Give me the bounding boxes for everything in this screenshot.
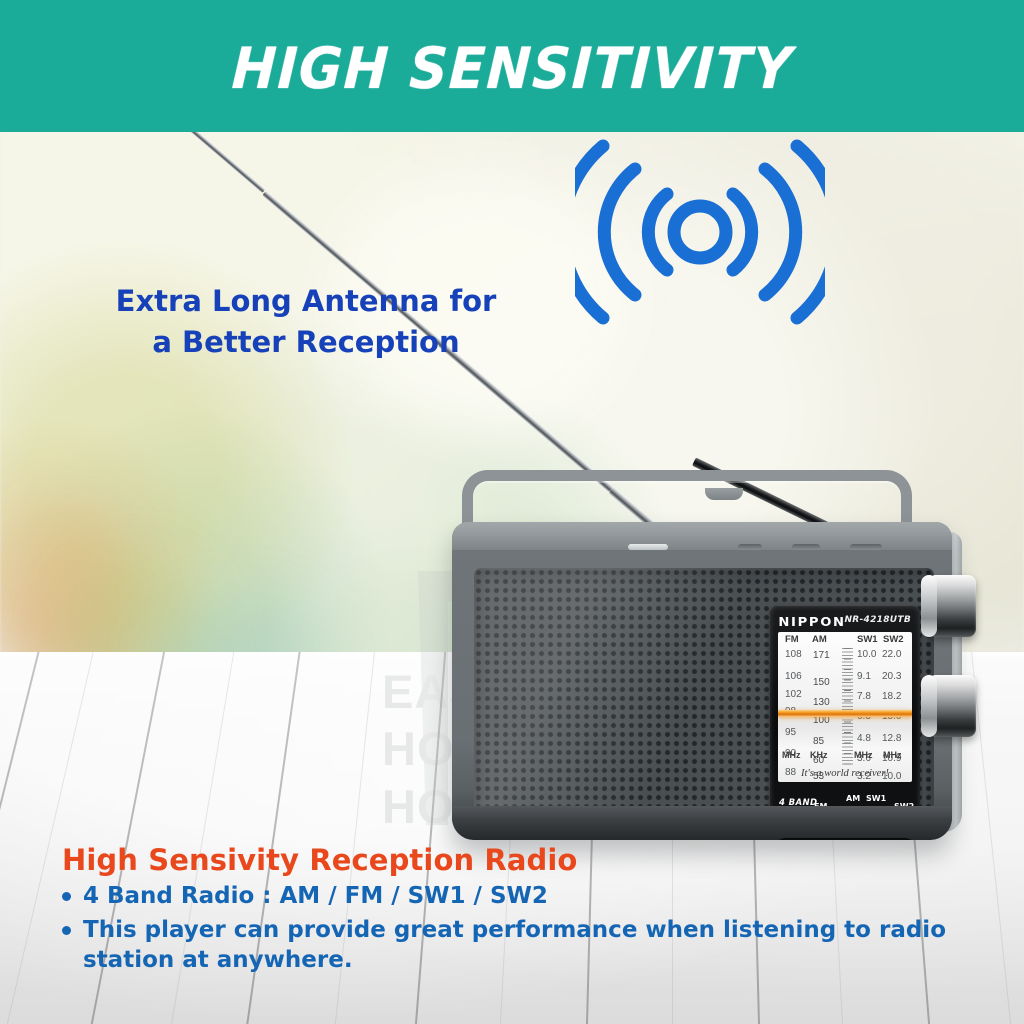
dial-unit-sw1: MHz bbox=[854, 750, 873, 760]
model-label: NR-4218UTB bbox=[844, 615, 911, 625]
dial-value-tuned: 95 bbox=[785, 727, 796, 738]
dial-value: 85 bbox=[813, 736, 824, 747]
feature-bullet-text: 4 Band Radio : AM / FM / SW1 / SW2 bbox=[83, 883, 548, 909]
tuning-knob[interactable] bbox=[928, 575, 976, 637]
dial-header-sw2: SW2 bbox=[883, 634, 904, 645]
dial-value: 9.1 bbox=[857, 671, 871, 682]
dial-header-fm: FM bbox=[785, 634, 799, 645]
dial-major-ticks bbox=[844, 648, 851, 766]
dial-unit-fm: MHz bbox=[782, 750, 801, 760]
dial-tagline: It's a world receiver! bbox=[778, 768, 912, 779]
bullet-dot-icon bbox=[62, 892, 71, 901]
antenna-callout-line1: Extra Long Antenna for bbox=[86, 281, 526, 322]
volume-knob[interactable] bbox=[928, 675, 976, 737]
feature-bullet-text: This player can provide great performanc… bbox=[83, 917, 946, 972]
dial-value: 150 bbox=[813, 677, 830, 688]
knob-cap bbox=[921, 675, 937, 737]
dial-value: 18.2 bbox=[882, 691, 901, 702]
dial-value: 171 bbox=[813, 650, 830, 661]
radio-base bbox=[452, 806, 952, 840]
dial-unit-sw2: MHz bbox=[883, 750, 902, 760]
band-switch-well[interactable] bbox=[772, 838, 918, 840]
dial-units: MHz KHz MHz MHz bbox=[778, 750, 912, 762]
feature-bullet: 4 Band Radio : AM / FM / SW1 / SW2 bbox=[62, 882, 962, 911]
dial-unit-am: KHz bbox=[810, 750, 828, 760]
knob-cap bbox=[921, 575, 937, 637]
dial-header-am: AM bbox=[812, 634, 827, 645]
dial-headers: FM AM SW1 SW2 bbox=[778, 634, 912, 647]
product-infographic: HIGH SENSITIVITY Extra Long Antenna for … bbox=[0, 0, 1024, 1024]
dial-value: 130 bbox=[813, 697, 830, 708]
band-mark-am: AM bbox=[846, 794, 860, 803]
feature-bullet: This player can provide great performanc… bbox=[62, 916, 962, 975]
header-banner: HIGH SENSITIVITY bbox=[0, 0, 1024, 132]
feature-title: High Sensivity Reception Radio bbox=[62, 843, 962, 877]
dial-value: 20.3 bbox=[882, 671, 901, 682]
dial-value: 7.8 bbox=[857, 691, 871, 702]
page-title: HIGH SENSITIVITY bbox=[230, 36, 794, 102]
top-face bbox=[452, 522, 952, 552]
feature-copy: High Sensivity Reception Radio 4 Band Ra… bbox=[62, 843, 962, 975]
dial-value: 4.8 bbox=[857, 733, 871, 744]
dial-header-sw1: SW1 bbox=[857, 634, 878, 645]
radio-wave-icon bbox=[575, 132, 825, 332]
control-panel: NIPPON NR-4218UTB FM AM SW1 SW2 108 106 … bbox=[770, 606, 920, 828]
radio-body: NIPPON NR-4218UTB FM AM SW1 SW2 108 106 … bbox=[452, 522, 952, 840]
tuning-pointer bbox=[778, 710, 912, 717]
radio-device: NIPPON NR-4218UTB FM AM SW1 SW2 108 106 … bbox=[452, 470, 962, 840]
dial-value: 12.8 bbox=[882, 733, 901, 744]
bullet-dot-icon bbox=[62, 926, 71, 935]
dial-value: 10.0 bbox=[857, 649, 876, 660]
handle-notch bbox=[705, 488, 743, 500]
dial-value: 108 bbox=[785, 649, 802, 660]
dial-value: 106 bbox=[785, 671, 802, 682]
dial-value: 102 bbox=[785, 689, 802, 700]
antenna-callout-line2: a Better Reception bbox=[86, 322, 526, 363]
brand-label: NIPPON bbox=[778, 614, 845, 629]
antenna-callout: Extra Long Antenna for a Better Receptio… bbox=[86, 281, 526, 363]
dial-value: 22.0 bbox=[882, 649, 901, 660]
band-mark-sw1: SW1 bbox=[866, 794, 886, 803]
tuning-dial[interactable]: FM AM SW1 SW2 108 106 102 98 95 90 88 bbox=[778, 632, 912, 782]
